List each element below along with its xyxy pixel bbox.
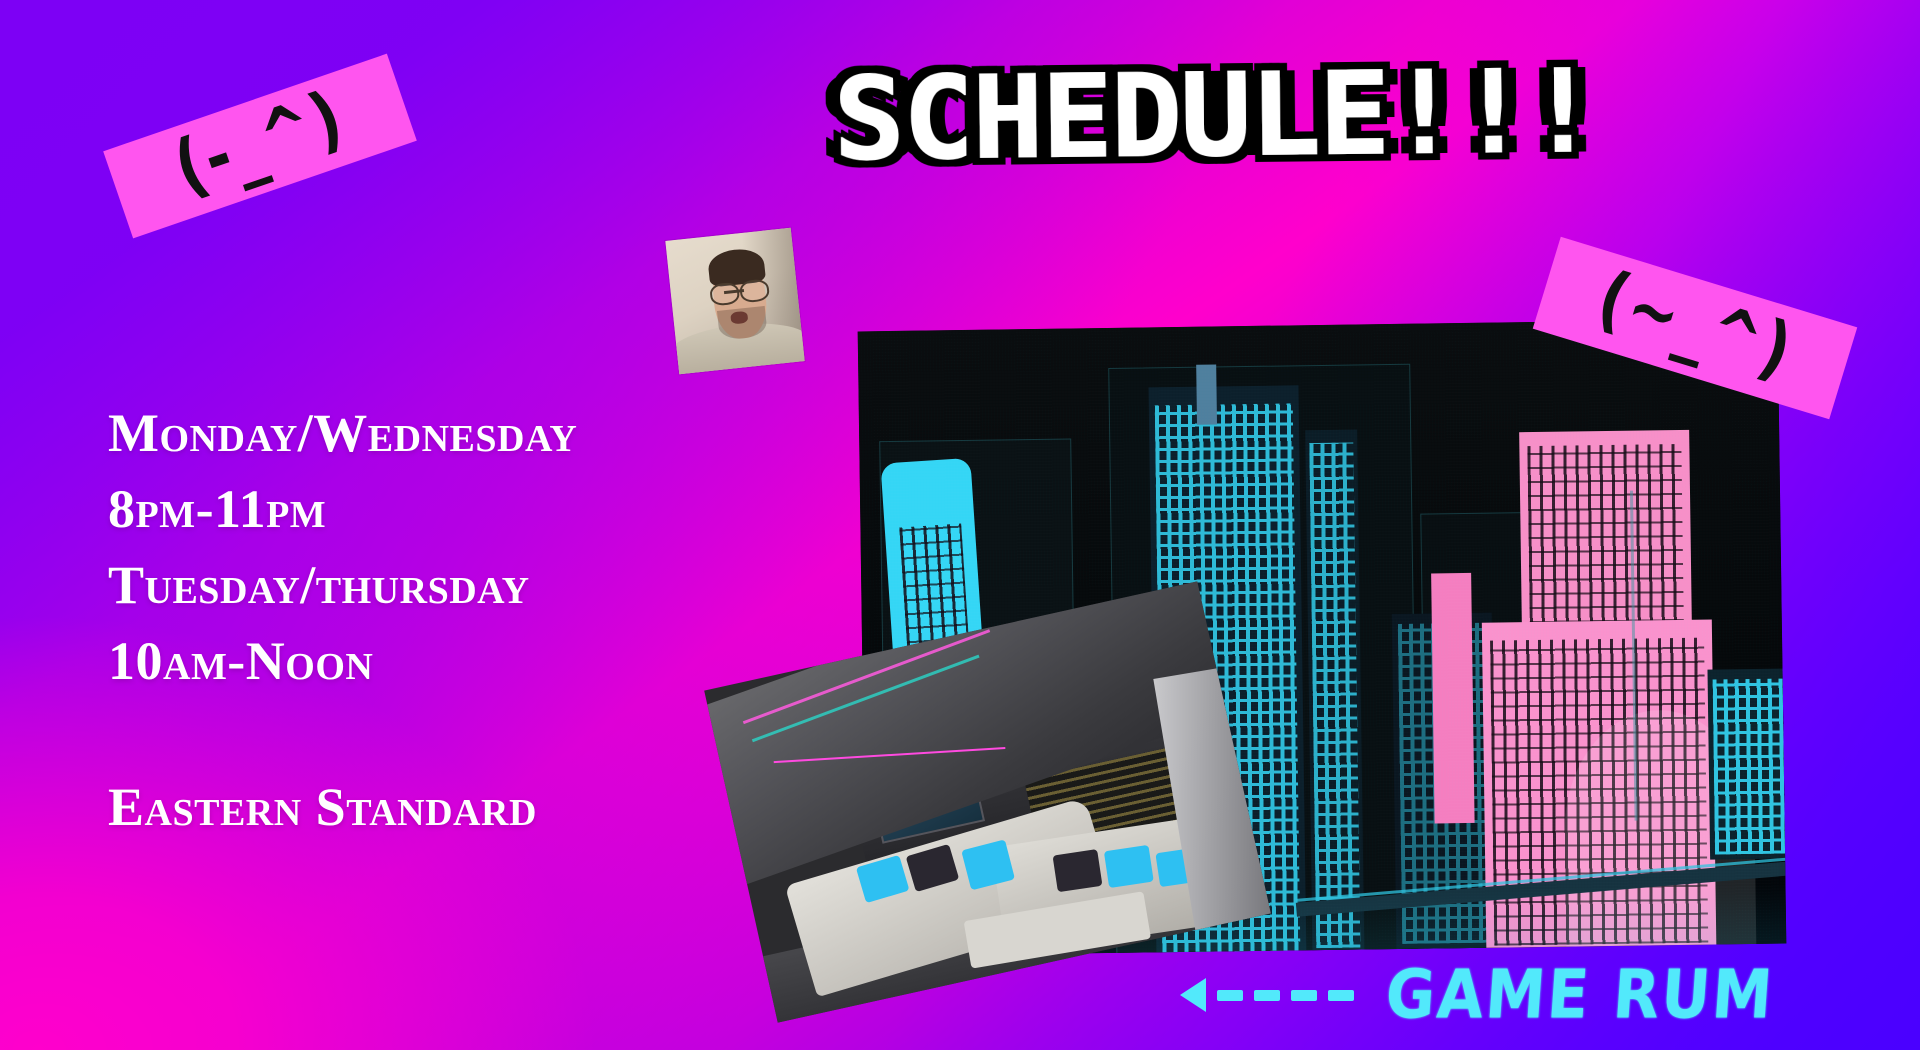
schedule-line-tuethu-time: 10am-Noon <box>108 623 577 699</box>
arrow-dash-4 <box>1328 990 1354 1001</box>
arrow-dash-3 <box>1291 990 1317 1001</box>
dashed-arrow-left-icon <box>1180 978 1354 1012</box>
avatar <box>665 228 804 374</box>
game-room-label: GAME RUM <box>1383 956 1776 1034</box>
schedule-poster: SCHEDULE!!! SCHEDULE!!! SCHEDULE!!! Mond… <box>0 0 1920 1050</box>
arrow-head-icon <box>1180 978 1206 1012</box>
schedule-timezone: Eastern Standard <box>108 769 577 845</box>
room-cushion-cyan-3 <box>1103 845 1153 889</box>
schedule-line-monwed: Monday/Wednesday <box>108 395 577 471</box>
game-room-callout: GAME RUM <box>1180 960 1774 1030</box>
arrow-dash-1 <box>1217 990 1243 1001</box>
schedule-line-tuethu: Tuesday/thursday <box>108 547 577 623</box>
title-text: SCHEDULE!!! <box>833 55 1597 177</box>
schedule-text-block: Monday/Wednesday 8pm-11pm Tuesday/thursd… <box>108 395 577 845</box>
arrow-dash-2 <box>1254 990 1280 1001</box>
schedule-line-monwed-time: 8pm-11pm <box>108 471 577 547</box>
poster-title: SCHEDULE!!! SCHEDULE!!! SCHEDULE!!! <box>854 56 1575 176</box>
schedule-spacer <box>108 699 577 769</box>
room-cushion-dark-2 <box>1053 849 1103 893</box>
